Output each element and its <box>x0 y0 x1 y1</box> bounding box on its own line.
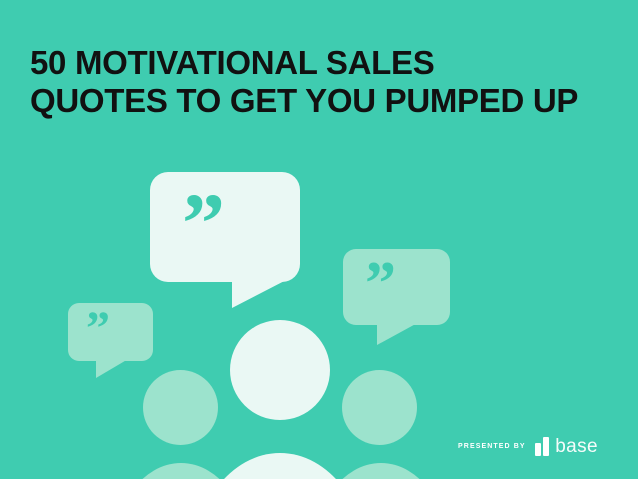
speech-bubble-medium: ” <box>343 249 450 325</box>
quote-mark-icon: ” <box>365 253 396 315</box>
presented-by-label: PRESENTED BY <box>458 443 526 450</box>
speech-bubble-large-tail <box>232 276 294 308</box>
speech-bubble-small-box <box>68 303 153 361</box>
slide-title-line-1: 50 MOTIVATIONAL SALES <box>30 44 610 82</box>
logo-bar-short <box>535 443 541 456</box>
speech-bubble-small-tail <box>96 358 130 378</box>
speech-bubble-medium-tail <box>377 321 421 345</box>
footer-branding: PRESENTED BY base <box>458 437 598 456</box>
presentation-slide: ” ” ” 50 MOTIVATIONAL SALES QUOTES TO GE… <box>0 0 638 479</box>
slide-title-line-2: QUOTES TO GET YOU PUMPED UP <box>30 82 610 120</box>
person-body-center <box>190 453 370 479</box>
brand-name-label: base <box>555 437 598 456</box>
quote-mark-icon: ” <box>182 180 225 266</box>
person-head-center <box>230 320 330 420</box>
speech-bubble-large-box <box>150 172 300 282</box>
base-logo-icon <box>535 437 550 456</box>
logo-bar-tall <box>543 437 549 456</box>
speech-bubble-medium-box <box>343 249 450 325</box>
speech-bubble-small: ” <box>68 303 153 361</box>
slide-title: 50 MOTIVATIONAL SALES QUOTES TO GET YOU … <box>30 44 610 120</box>
quote-mark-icon: ” <box>86 305 110 353</box>
speech-bubble-large: ” <box>150 172 300 282</box>
